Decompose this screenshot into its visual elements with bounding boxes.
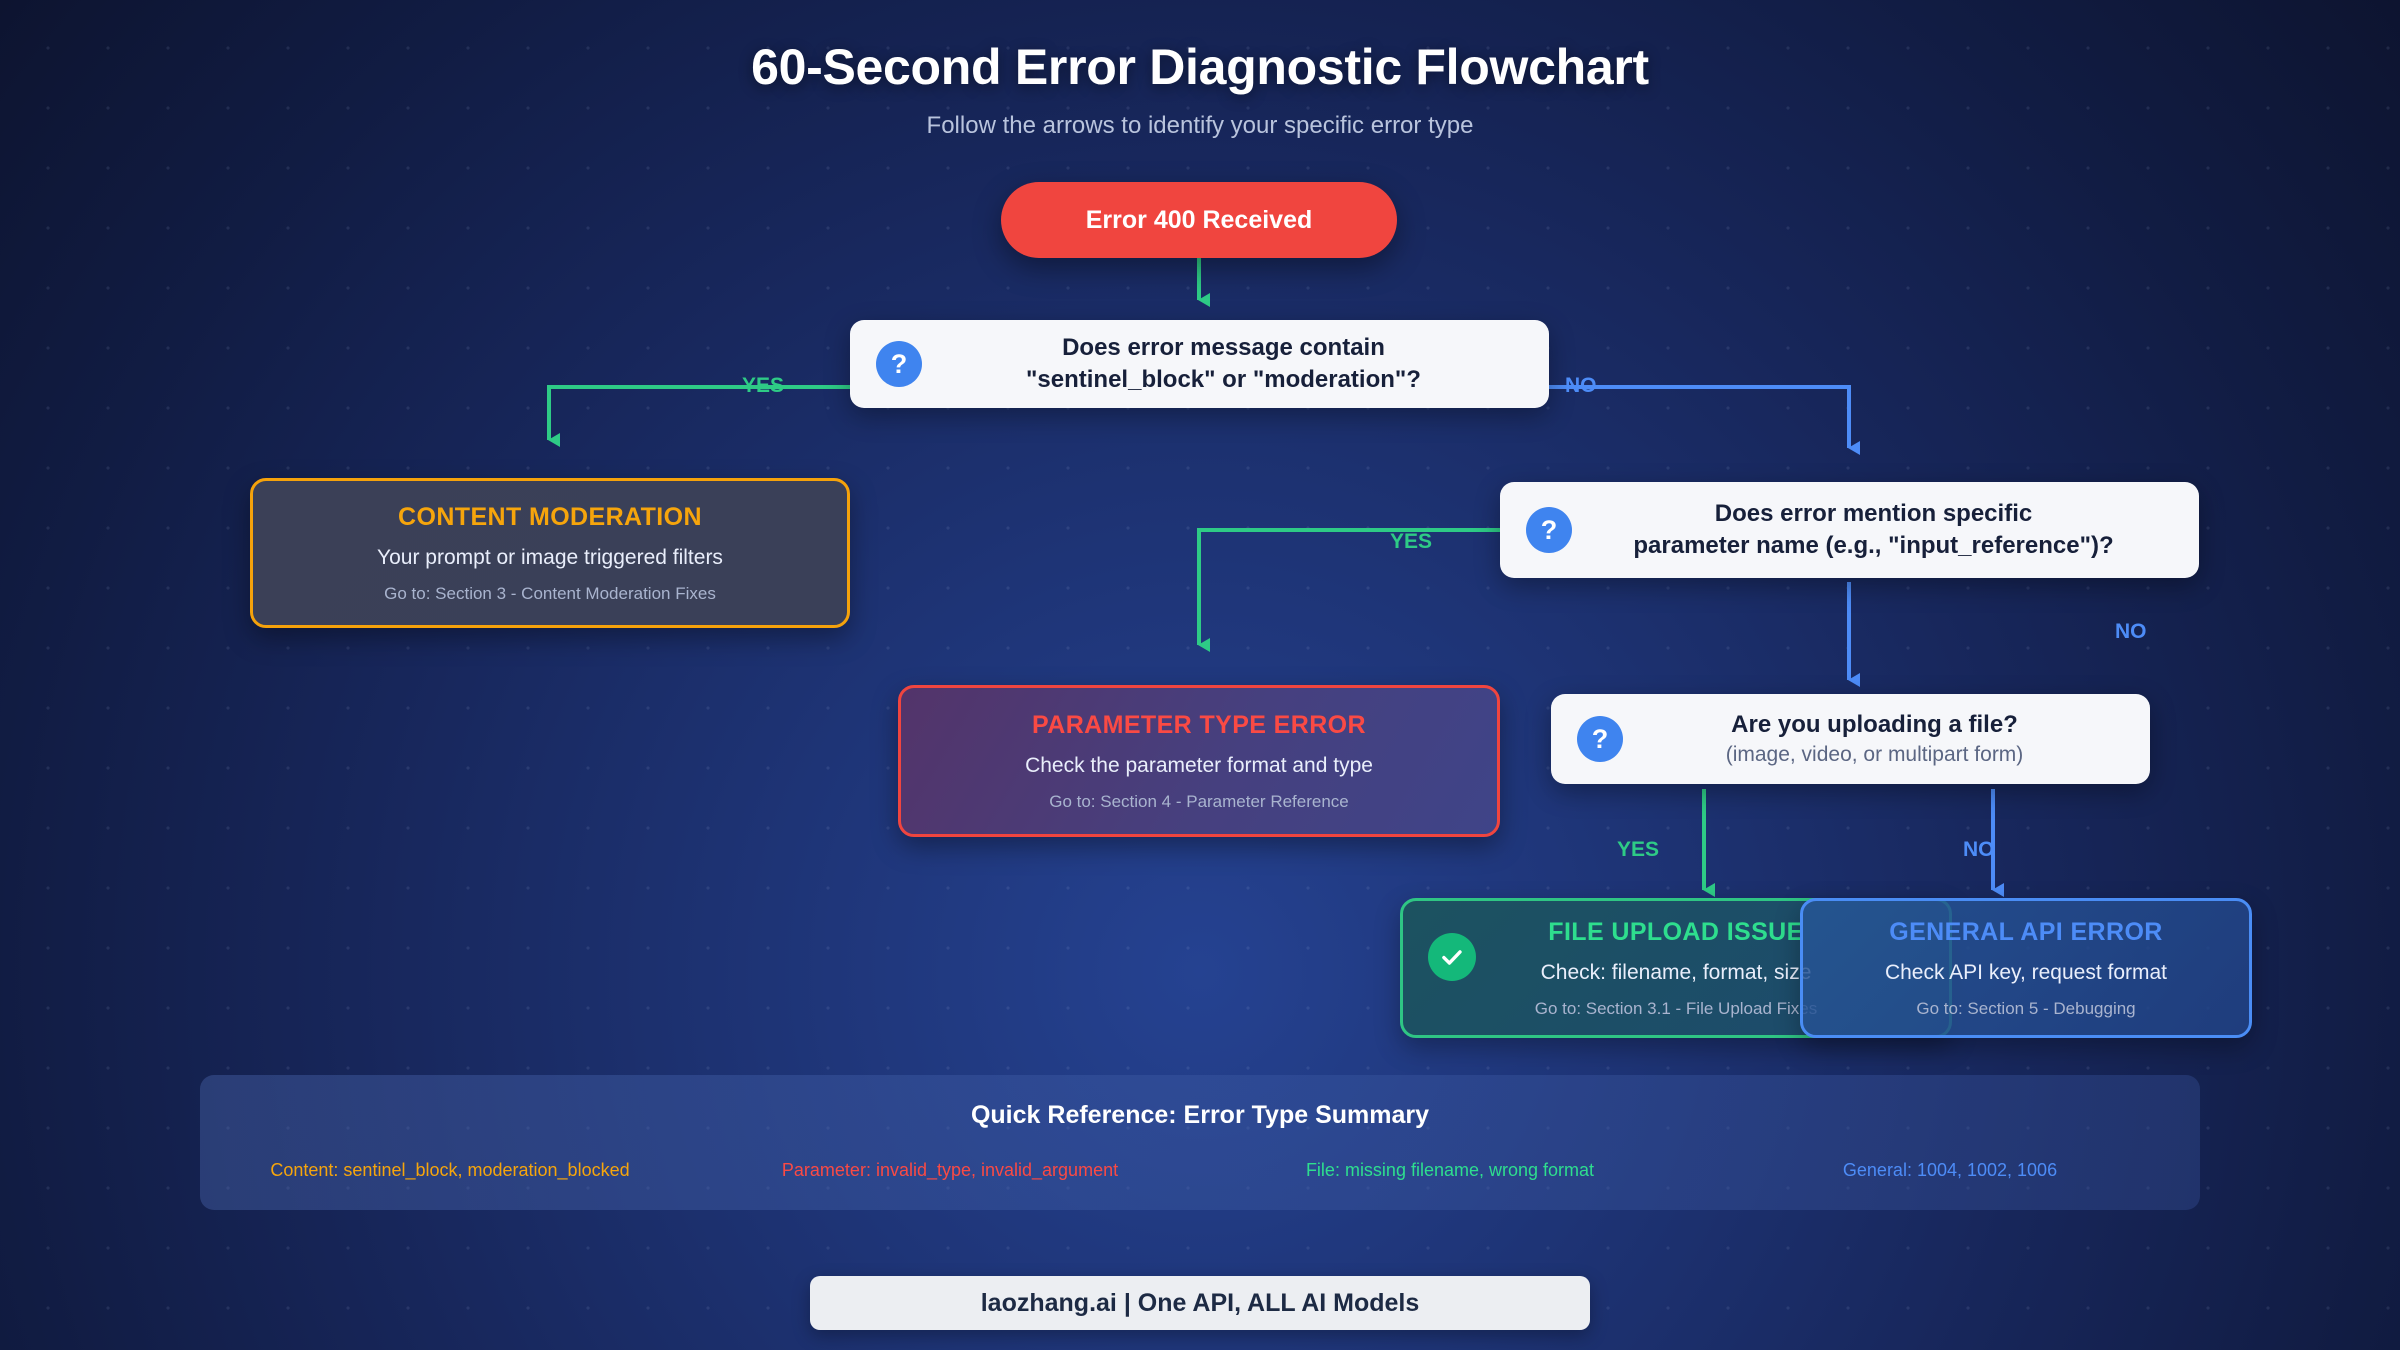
- start-label: Error 400 Received: [1086, 206, 1313, 235]
- footer-brand-badge[interactable]: laozhang.ai | One API, ALL AI Models: [810, 1276, 1590, 1330]
- summary-title: Quick Reference: Error Type Summary: [200, 1101, 2200, 1130]
- outcome-parameter-type-error[interactable]: PARAMETER TYPE ERROR Check the parameter…: [898, 685, 1500, 837]
- decision-sentinel-block[interactable]: ? Does error message contain "sentinel_b…: [850, 320, 1549, 408]
- summary-items: Content: sentinel_block, moderation_bloc…: [200, 1160, 2200, 1181]
- question-icon: ?: [876, 341, 922, 387]
- edge-label-no-1: NO: [1565, 374, 1597, 398]
- edge-label-yes-1: YES: [742, 374, 784, 398]
- edge-label-yes-2: YES: [1390, 530, 1432, 554]
- outcome-file-goto: Go to: Section 3.1 - File Upload Fixes: [1535, 999, 1818, 1019]
- summary-item-file: File: missing filename, wrong format: [1200, 1160, 1700, 1181]
- outcome-parameter-desc: Check the parameter format and type: [1025, 754, 1373, 778]
- outcome-general-api-error[interactable]: GENERAL API ERROR Check API key, request…: [1800, 898, 2252, 1038]
- outcome-moderation-goto: Go to: Section 3 - Content Moderation Fi…: [384, 584, 716, 604]
- edge-label-no-3: NO: [1963, 838, 1995, 862]
- outcome-file-title: FILE UPLOAD ISSUE: [1548, 918, 1803, 947]
- decision-2-line2: parameter name (e.g., "input_reference")…: [1572, 530, 2175, 562]
- decision-1-line2: "sentinel_block" or "moderation"?: [922, 364, 1525, 396]
- outcome-general-desc: Check API key, request format: [1885, 961, 2167, 985]
- decision-1-line1: Does error message contain: [922, 332, 1525, 364]
- outcome-moderation-title: CONTENT MODERATION: [398, 503, 702, 532]
- node-error-400-start[interactable]: Error 400 Received: [1001, 182, 1397, 258]
- outcome-parameter-title: PARAMETER TYPE ERROR: [1032, 711, 1366, 740]
- decision-2-line1: Does error mention specific: [1572, 498, 2175, 530]
- summary-item-general: General: 1004, 1002, 1006: [1700, 1160, 2200, 1181]
- decision-3-text: Are you uploading a file? (image, video,…: [1623, 709, 2150, 768]
- outcome-file-desc: Check: filename, format, size: [1541, 961, 1812, 985]
- question-icon: ?: [1577, 716, 1623, 762]
- decision-2-text: Does error mention specific parameter na…: [1572, 498, 2199, 562]
- summary-item-parameter: Parameter: invalid_type, invalid_argumen…: [700, 1160, 1200, 1181]
- quick-reference-panel: Quick Reference: Error Type Summary Cont…: [200, 1075, 2200, 1210]
- outcome-general-title: GENERAL API ERROR: [1889, 918, 2163, 947]
- summary-item-content: Content: sentinel_block, moderation_bloc…: [200, 1160, 700, 1181]
- decision-parameter-name[interactable]: ? Does error mention specific parameter …: [1500, 482, 2199, 578]
- decision-file-upload[interactable]: ? Are you uploading a file? (image, vide…: [1551, 694, 2150, 784]
- outcome-content-moderation[interactable]: CONTENT MODERATION Your prompt or image …: [250, 478, 850, 628]
- check-icon: [1428, 933, 1476, 981]
- decision-3-sub: (image, video, or multipart form): [1623, 741, 2126, 768]
- edge-label-no-2: NO: [2115, 620, 2147, 644]
- outcome-general-goto: Go to: Section 5 - Debugging: [1916, 999, 2135, 1019]
- decision-1-text: Does error message contain "sentinel_blo…: [922, 332, 1549, 396]
- decision-3-line1: Are you uploading a file?: [1623, 709, 2126, 741]
- footer-brand-label: laozhang.ai | One API, ALL AI Models: [981, 1289, 1420, 1318]
- outcome-moderation-desc: Your prompt or image triggered filters: [377, 546, 723, 570]
- outcome-parameter-goto: Go to: Section 4 - Parameter Reference: [1049, 792, 1349, 812]
- flowchart-canvas: 60-Second Error Diagnostic Flowchart Fol…: [0, 0, 2400, 1350]
- question-icon: ?: [1526, 507, 1572, 553]
- edge-label-yes-3: YES: [1617, 838, 1659, 862]
